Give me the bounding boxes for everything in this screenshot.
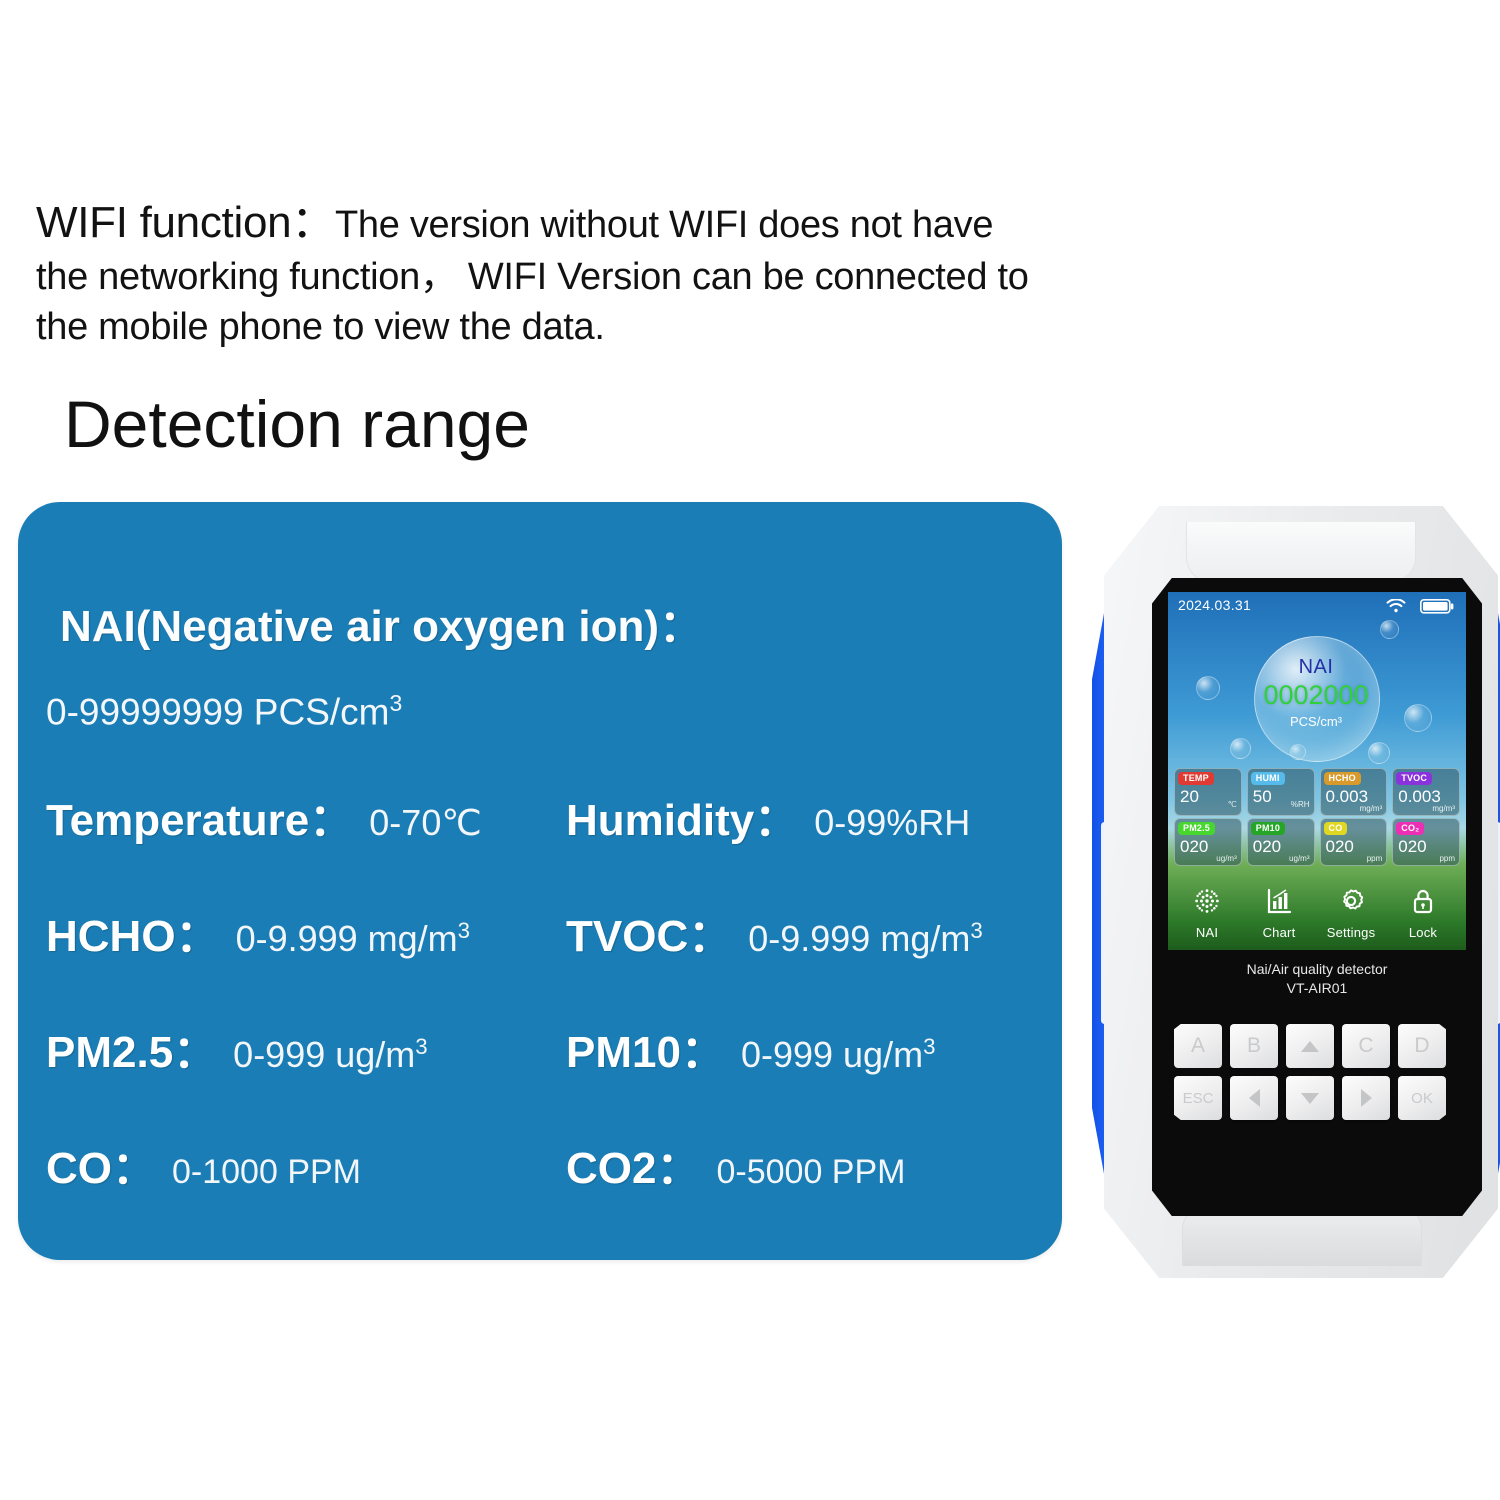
range-value-exponent: 3 bbox=[458, 918, 470, 943]
sensor-tag: PM10 bbox=[1251, 822, 1285, 835]
screen-nav-bar: NAI Chart bbox=[1168, 874, 1466, 950]
range-item-hcho: HCHO： 0-9.999 mg/m3 bbox=[46, 900, 566, 964]
range-item-temperature: Temperature： 0-70℃ bbox=[46, 784, 566, 848]
sensor-tile-tvoc[interactable]: TVOC 0.003 mg/m³ bbox=[1392, 768, 1460, 816]
range-value-text: 0-9.999 mg/m bbox=[748, 918, 970, 959]
sensor-tile-row-1: TEMP 20 ℃ HUMI 50 %RH HCHO 0.003 mg/m³ bbox=[1174, 768, 1460, 816]
sensor-unit: ug/m³ bbox=[1289, 854, 1309, 863]
sensor-value: 020 bbox=[1253, 837, 1281, 857]
nai-range-text: 0-99999999 PCS/cm bbox=[46, 691, 389, 732]
arrow-up-icon bbox=[1301, 1041, 1319, 1052]
key-label: A bbox=[1191, 1034, 1205, 1058]
page-title: Detection range bbox=[64, 386, 530, 462]
range-label: TVOC： bbox=[566, 900, 732, 964]
key-up[interactable] bbox=[1286, 1024, 1334, 1068]
range-value-text: 0-9.999 mg/m bbox=[236, 918, 458, 959]
sensor-unit: ppm bbox=[1439, 854, 1455, 863]
lcd-screen[interactable]: 2024.03.31 bbox=[1168, 592, 1466, 950]
sensor-unit: ug/m³ bbox=[1216, 854, 1236, 863]
range-label: Temperature： bbox=[46, 784, 353, 848]
range-item-co: CO： 0-1000 PPM bbox=[46, 1132, 566, 1196]
nav-item-settings[interactable]: Settings bbox=[1316, 886, 1386, 940]
nai-dots-icon bbox=[1192, 886, 1222, 916]
nav-item-lock[interactable]: Lock bbox=[1388, 886, 1458, 940]
sensor-tile-hcho[interactable]: HCHO 0.003 mg/m³ bbox=[1320, 768, 1388, 816]
range-item-tvoc: TVOC： 0-9.999 mg/m3 bbox=[566, 900, 1036, 964]
nav-label: NAI bbox=[1172, 925, 1242, 940]
sensor-tag: HCHO bbox=[1324, 772, 1361, 785]
top-vent-panel bbox=[1186, 522, 1416, 583]
sensor-tile-row-2: PM2.5 020 ug/m³ PM10 020 ug/m³ CO 020 pp… bbox=[1174, 818, 1460, 866]
sensor-unit: mg/m³ bbox=[1360, 804, 1383, 813]
sensor-value: 20 bbox=[1180, 787, 1199, 807]
range-value: 0-9.999 mg/m3 bbox=[236, 918, 471, 960]
arrow-right-icon bbox=[1361, 1089, 1372, 1107]
key-label: OK bbox=[1411, 1090, 1433, 1107]
range-row: PM2.5： 0-999 ug/m3 PM10： 0-999 ug/m3 bbox=[46, 1016, 1036, 1080]
key-right[interactable] bbox=[1342, 1076, 1390, 1120]
range-value: 0-99%RH bbox=[814, 802, 970, 844]
device-keypad: A B C D ESC OK bbox=[1174, 1024, 1462, 1120]
range-row: HCHO： 0-9.999 mg/m3 TVOC： 0-9.999 mg/m3 bbox=[46, 900, 1036, 964]
nai-bubble-label: NAI bbox=[1254, 656, 1378, 679]
sensor-tile-humi[interactable]: HUMI 50 %RH bbox=[1247, 768, 1315, 816]
key-c[interactable]: C bbox=[1342, 1024, 1390, 1068]
wifi-function-paragraph: WIFI function：The version without WIFI d… bbox=[36, 196, 1046, 350]
arrow-down-icon bbox=[1301, 1093, 1319, 1104]
range-label: HCHO： bbox=[46, 900, 220, 964]
range-value-exponent: 3 bbox=[970, 918, 982, 943]
range-label: PM2.5： bbox=[46, 1016, 217, 1080]
arrow-left-icon bbox=[1249, 1089, 1260, 1107]
range-item-pm25: PM2.5： 0-999 ug/m3 bbox=[46, 1016, 566, 1080]
nai-range-exponent: 3 bbox=[389, 690, 402, 716]
decorative-bubble bbox=[1404, 704, 1432, 732]
decorative-bubble bbox=[1380, 620, 1399, 639]
range-value: 0-9.999 mg/m3 bbox=[748, 918, 983, 960]
sensor-tag: HUMI bbox=[1251, 772, 1285, 785]
sensor-unit: mg/m³ bbox=[1432, 804, 1455, 813]
sensor-tag: PM2.5 bbox=[1178, 822, 1215, 835]
key-label: D bbox=[1414, 1034, 1429, 1058]
bar-chart-icon bbox=[1264, 886, 1294, 916]
detection-range-panel: NAI(Negative air oxygen ion)： 0-99999999… bbox=[18, 502, 1062, 1260]
sensor-value: 020 bbox=[1398, 837, 1426, 857]
nai-bubble-unit: PCS/cm³ bbox=[1254, 714, 1378, 729]
sensor-value: 020 bbox=[1326, 837, 1354, 857]
range-label: PM10： bbox=[566, 1016, 725, 1080]
sensor-tag: TEMP bbox=[1178, 772, 1214, 785]
sensor-tag: CO₂ bbox=[1396, 822, 1424, 835]
key-d[interactable]: D bbox=[1398, 1024, 1446, 1068]
device-housing: 2024.03.31 bbox=[1104, 506, 1498, 1278]
range-label: CO2： bbox=[566, 1132, 700, 1196]
range-item-humidity: Humidity： 0-99%RH bbox=[566, 784, 1036, 848]
nai-heading: NAI(Negative air oxygen ion)： bbox=[60, 590, 703, 654]
range-value: 0-999 ug/m3 bbox=[741, 1034, 936, 1076]
nav-item-chart[interactable]: Chart bbox=[1244, 886, 1314, 940]
range-row: CO： 0-1000 PPM CO2： 0-5000 PPM bbox=[46, 1132, 1036, 1196]
key-label: B bbox=[1247, 1034, 1261, 1058]
range-value: 0-999 ug/m3 bbox=[233, 1034, 428, 1076]
battery-icon bbox=[1420, 599, 1454, 619]
nav-label: Lock bbox=[1388, 925, 1458, 940]
air-quality-detector-device: 2024.03.31 bbox=[1086, 498, 1500, 1288]
device-model-number: VT-AIR01 bbox=[1152, 979, 1482, 998]
key-a[interactable]: A bbox=[1174, 1024, 1222, 1068]
wifi-icon bbox=[1386, 599, 1406, 619]
range-value: 0-70℃ bbox=[369, 802, 481, 844]
device-model-text: Nai/Air quality detector VT-AIR01 bbox=[1152, 960, 1482, 998]
decorative-bubble bbox=[1230, 738, 1251, 759]
sensor-value: 50 bbox=[1253, 787, 1272, 807]
wifi-function-label: WIFI function： bbox=[36, 198, 335, 247]
range-value-text: 0-999 ug/m bbox=[233, 1034, 415, 1075]
sensor-unit: ppm bbox=[1367, 854, 1383, 863]
nav-label: Settings bbox=[1316, 925, 1386, 940]
range-value-exponent: 3 bbox=[923, 1034, 935, 1059]
range-value: 0-1000 PPM bbox=[172, 1153, 361, 1192]
sensor-tile-pm25[interactable]: PM2.5 020 ug/m³ bbox=[1174, 818, 1242, 866]
device-faceplate: 2024.03.31 bbox=[1152, 578, 1482, 1216]
sensor-tag: CO bbox=[1324, 822, 1348, 835]
range-item-pm10: PM10： 0-999 ug/m3 bbox=[566, 1016, 1036, 1080]
sensor-unit: ℃ bbox=[1228, 800, 1237, 809]
key-down[interactable] bbox=[1286, 1076, 1334, 1120]
sensor-tag: TVOC bbox=[1396, 772, 1432, 785]
key-esc[interactable]: ESC bbox=[1174, 1076, 1222, 1120]
sensor-unit: %RH bbox=[1291, 800, 1310, 809]
nav-item-nai[interactable]: NAI bbox=[1172, 886, 1242, 940]
padlock-icon bbox=[1408, 886, 1438, 916]
range-label: CO： bbox=[46, 1132, 156, 1196]
key-label: C bbox=[1358, 1034, 1373, 1058]
sensor-tile-co[interactable]: CO 020 ppm bbox=[1320, 818, 1388, 866]
key-label: ESC bbox=[1183, 1090, 1214, 1107]
date-display: 2024.03.31 bbox=[1178, 597, 1251, 613]
device-name: Nai/Air quality detector bbox=[1152, 960, 1482, 979]
gear-icon bbox=[1336, 886, 1366, 916]
range-item-co2: CO2： 0-5000 PPM bbox=[566, 1132, 1036, 1196]
decorative-bubble bbox=[1368, 742, 1390, 764]
nav-label: Chart bbox=[1244, 925, 1314, 940]
range-grid: Temperature： 0-70℃ Humidity： 0-99%RH HCH… bbox=[46, 784, 1036, 1248]
nai-bubble-value: 0002000 bbox=[1238, 680, 1394, 711]
range-value-text: 0-999 ug/m bbox=[741, 1034, 923, 1075]
sensor-value: 020 bbox=[1180, 837, 1208, 857]
nai-range-value: 0-99999999 PCS/cm3 bbox=[46, 690, 402, 733]
screen-status-bar: 2024.03.31 bbox=[1168, 592, 1466, 618]
range-label: Humidity： bbox=[566, 784, 798, 848]
range-row: Temperature： 0-70℃ Humidity： 0-99%RH bbox=[46, 784, 1036, 848]
decorative-bubble bbox=[1196, 676, 1220, 700]
range-value-exponent: 3 bbox=[415, 1034, 427, 1059]
key-left[interactable] bbox=[1230, 1076, 1278, 1120]
sensor-tile-temp[interactable]: TEMP 20 ℃ bbox=[1174, 768, 1242, 816]
range-value: 0-5000 PPM bbox=[716, 1153, 905, 1192]
key-b[interactable]: B bbox=[1230, 1024, 1278, 1068]
sensor-tile-co2[interactable]: CO₂ 020 ppm bbox=[1392, 818, 1460, 866]
key-ok[interactable]: OK bbox=[1398, 1076, 1446, 1120]
sensor-tile-pm10[interactable]: PM10 020 ug/m³ bbox=[1247, 818, 1315, 866]
